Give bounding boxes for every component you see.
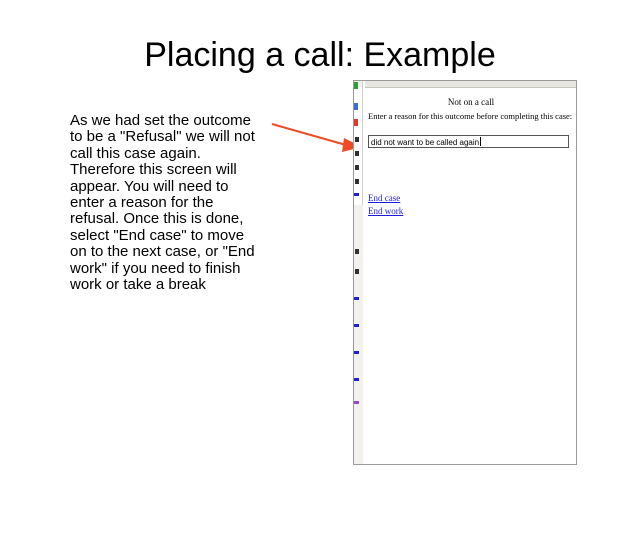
sidebar-text-fragment-4 bbox=[355, 179, 359, 184]
screenshot-frame: Not on a call Enter a reason for this ou… bbox=[353, 80, 577, 465]
red-arrow-annotation bbox=[268, 114, 364, 158]
sidebar-link-fragment-5[interactable] bbox=[354, 378, 359, 381]
sidebar-text-fragment-3 bbox=[355, 165, 359, 170]
browser-toolbar-strip bbox=[354, 81, 577, 88]
sidebar-text-fragment-2 bbox=[355, 151, 359, 156]
cropped-sidebar-sliver bbox=[354, 81, 365, 465]
end-case-link[interactable]: End case bbox=[368, 193, 400, 203]
dialog-instruction-text: Enter a reason for this outcome before c… bbox=[368, 111, 574, 122]
sidebar-text-fragment-5 bbox=[355, 249, 359, 254]
sidebar-text-fragment-6 bbox=[355, 269, 359, 274]
reason-input-value: did not want to be called again bbox=[371, 138, 479, 147]
sidebar-link-fragment-1[interactable] bbox=[354, 193, 359, 196]
reason-input[interactable]: did not want to be called again bbox=[368, 135, 569, 148]
not-on-a-call-dialog: Not on a call Enter a reason for this ou… bbox=[365, 89, 577, 465]
blue-chip-icon bbox=[354, 103, 358, 110]
red-chip-icon bbox=[354, 119, 358, 126]
dialog-heading: Not on a call bbox=[365, 97, 577, 107]
end-work-link[interactable]: End work bbox=[368, 206, 403, 216]
sidebar-text-fragment-1 bbox=[355, 137, 359, 142]
sidebar-link-fragment-6[interactable] bbox=[354, 401, 359, 404]
page-title: Placing a call: Example bbox=[0, 36, 640, 75]
arrow-shaft bbox=[272, 124, 346, 145]
slide-body-text: As we had set the outcome to be a "Refus… bbox=[70, 113, 260, 293]
embedded-app-screenshot: Not on a call Enter a reason for this ou… bbox=[353, 80, 577, 465]
sidebar-link-fragment-3[interactable] bbox=[354, 324, 359, 327]
green-chip-icon bbox=[354, 82, 358, 89]
text-caret bbox=[480, 137, 481, 146]
sidebar-link-fragment-4[interactable] bbox=[354, 351, 359, 354]
sidebar-link-fragment-2[interactable] bbox=[354, 297, 359, 300]
sidebar-panel-lower bbox=[354, 205, 363, 465]
slide-canvas: Placing a call: Example As we had set th… bbox=[0, 0, 640, 480]
